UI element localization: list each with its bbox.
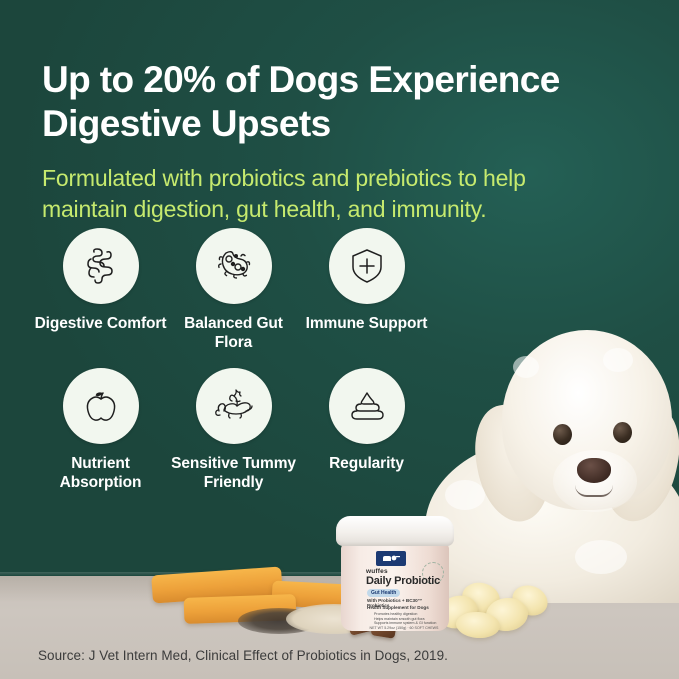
dog-fur-texture — [603, 348, 633, 372]
page-subheadline: Formulated with probiotics and prebiotic… — [42, 163, 617, 225]
jar-brand-name: wuffes — [366, 568, 426, 575]
benefit-label: Regularity — [329, 454, 404, 473]
dog-fur-texture — [513, 356, 539, 378]
intestine-icon — [63, 228, 139, 304]
jar-net-weight: NET WT 5.29oz (150g) · 60 SOFT CHEWS — [364, 626, 444, 630]
dog-eye-right — [613, 422, 632, 443]
dog-logo-icon — [380, 554, 402, 563]
probiotic-infographic: wuffes Daily Probiotic Gut Health With P… — [0, 0, 679, 679]
product-jar: wuffes Daily Probiotic Gut Health With P… — [334, 516, 456, 634]
source-citation: Source: J Vet Intern Med, Clinical Effec… — [38, 648, 448, 663]
dog-fur-texture — [445, 480, 485, 510]
brand-logo-badge — [376, 551, 406, 566]
dog-photo — [425, 330, 679, 590]
benefit-label: Sensitive Tummy Friendly — [168, 454, 300, 492]
benefits-row-2: Nutrient Absorption — [34, 368, 434, 492]
jar-subline-2: Health Supplement for Dogs — [367, 605, 439, 610]
benefit-nutrient-absorption[interactable]: Nutrient Absorption — [34, 368, 167, 492]
benefit-digestive-comfort[interactable]: Digestive Comfort — [34, 228, 167, 352]
benefits-row-1: Digestive Comfort — [34, 228, 434, 352]
jar-benefit-pill: Gut Health — [367, 589, 400, 597]
benefit-regularity[interactable]: Regularity — [300, 368, 433, 492]
dog-eye-left — [553, 424, 572, 445]
jar-lid — [336, 516, 454, 546]
benefit-label: Digestive Comfort — [35, 314, 167, 333]
stool-icon — [329, 368, 405, 444]
dog-mouth — [575, 485, 613, 497]
jar-product-title: Daily Probiotic — [366, 575, 446, 587]
benefit-sensitive-tummy-friendly[interactable]: Sensitive Tummy Friendly — [167, 368, 300, 492]
benefit-immune-support[interactable]: Immune Support — [300, 228, 433, 352]
benefit-balanced-gut-flora[interactable]: Balanced Gut Flora — [167, 228, 300, 352]
dog-nose — [577, 458, 611, 483]
dog-fur-texture — [575, 540, 627, 574]
shield-plus-icon — [329, 228, 405, 304]
bacteria-icon — [196, 228, 272, 304]
dog-on-back-icon — [196, 368, 272, 444]
benefit-label: Nutrient Absorption — [35, 454, 167, 492]
page-headline: Up to 20% of Dogs Experience Digestive U… — [42, 58, 642, 146]
apple-icon — [63, 368, 139, 444]
benefit-label: Balanced Gut Flora — [168, 314, 300, 352]
benefits-grid: Digestive Comfort — [34, 228, 434, 508]
jar-bullet-list: Promotes healthy digestion Helps maintai… — [374, 612, 440, 626]
benefit-label: Immune Support — [306, 314, 428, 333]
